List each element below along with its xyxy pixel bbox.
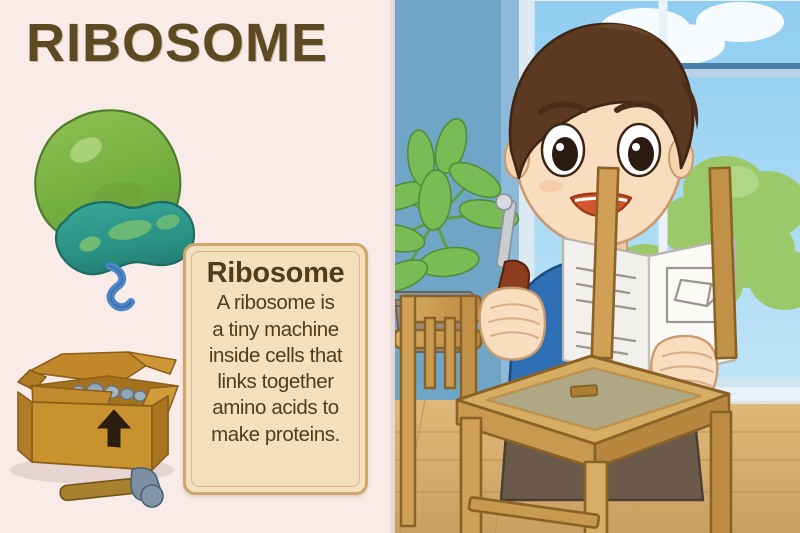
definition-card: Ribosome A ribosome is a tiny machine in… bbox=[183, 243, 368, 495]
definition-card-body: A ribosome is a tiny machine inside cell… bbox=[198, 290, 353, 447]
ribosome-illustration bbox=[18, 98, 208, 328]
definition-line: make proteins. bbox=[200, 422, 351, 448]
ribosome-poster: RIBOSOME bbox=[0, 0, 800, 533]
left-info-panel: RIBOSOME bbox=[0, 0, 393, 533]
definition-card-inner: Ribosome A ribosome is a tiny machine in… bbox=[191, 251, 360, 487]
boy-left-hand bbox=[480, 288, 545, 360]
definition-card-heading: Ribosome bbox=[198, 258, 353, 288]
definition-line: inside cells that bbox=[200, 343, 351, 369]
mrna-strand-icon bbox=[110, 266, 131, 307]
definition-line: links together bbox=[200, 369, 351, 395]
right-photo-panel bbox=[395, 0, 800, 533]
toolbox-illustration bbox=[0, 330, 195, 530]
chair-assembly-scene bbox=[395, 0, 800, 533]
page-title: RIBOSOME bbox=[26, 16, 328, 70]
definition-line: A ribosome is bbox=[200, 290, 351, 316]
definition-line: amino acids to bbox=[200, 395, 351, 421]
definition-line: a tiny machine bbox=[200, 317, 351, 343]
ribosome-small-subunit bbox=[56, 202, 194, 274]
